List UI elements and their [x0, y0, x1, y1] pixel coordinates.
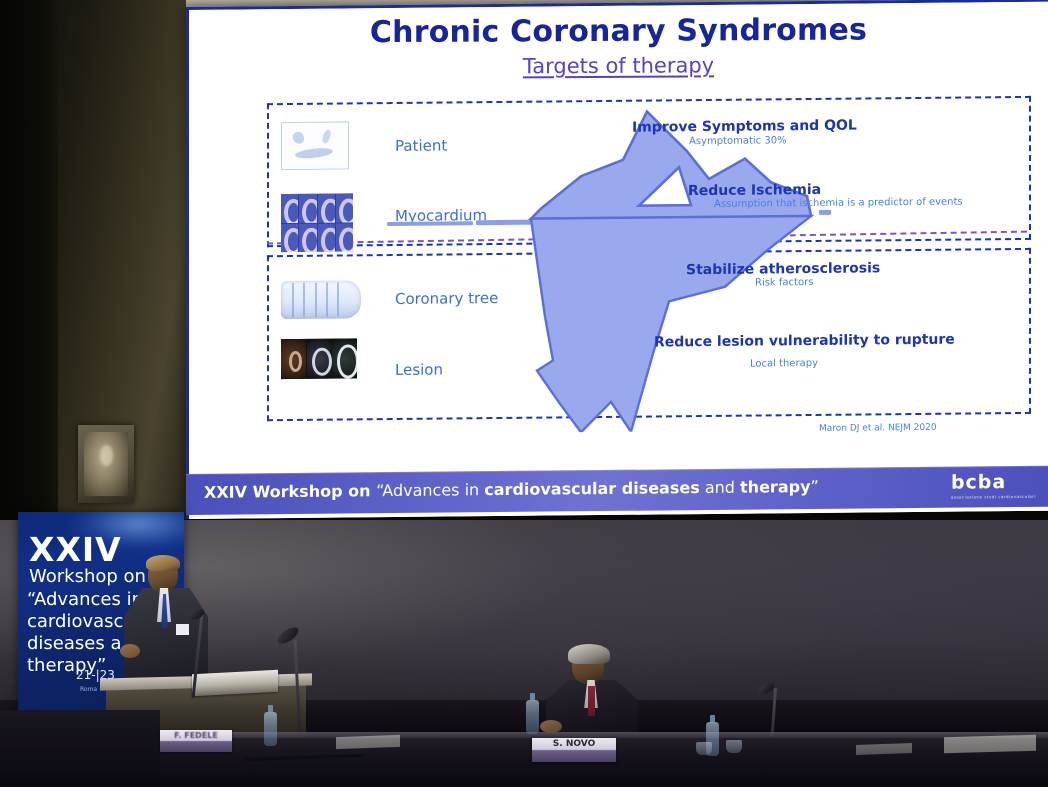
nameplate-left: F. FEDELE	[160, 730, 232, 752]
spect-tile	[318, 194, 335, 223]
lesion-imaging-thumbnail-icon	[281, 338, 357, 379]
spect-tile	[336, 193, 353, 222]
bcba-logo: bcbaassociazione studi cardiovascolari	[951, 471, 1036, 500]
left-label-lesion: Lesion	[395, 361, 443, 379]
drinking-glass-1	[696, 742, 712, 755]
seated-chairperson	[546, 648, 638, 740]
lesion-tile-ivus	[307, 339, 332, 379]
patient-figure-part-c	[295, 146, 334, 159]
event-banner-text: XXIV Workshop on “Advances in cardiovasc…	[204, 477, 819, 502]
drinking-glass-2	[726, 740, 742, 753]
banner-mid: and	[700, 478, 740, 497]
patient-figure-part-b	[321, 129, 333, 144]
target-label-1: Improve Symptoms and QOL	[632, 118, 857, 136]
water-bottle-1	[264, 712, 277, 746]
table-paper-1	[336, 735, 400, 749]
banner-quote-close: ”	[811, 477, 819, 496]
conference-photo-scene: Chronic Coronary Syndromes Targets of th…	[0, 0, 1048, 787]
wall-painting	[78, 425, 134, 503]
rollup-number: XXIV	[29, 530, 122, 569]
bcba-logo-subtext: associazione studi cardiovascolari	[951, 494, 1036, 500]
water-bottle-2	[526, 700, 539, 734]
podium-laptop	[192, 670, 278, 697]
lesion-tile-histology	[281, 339, 306, 379]
spect-tile	[299, 194, 316, 223]
slide-citation: Maron DJ et al. NEJM 2020	[819, 423, 937, 434]
presenter-hair	[146, 555, 180, 571]
target-label-4: Reduce lesion vulnerability to rupture	[654, 332, 955, 351]
painting-figure	[100, 445, 112, 465]
spect-tile	[318, 223, 335, 252]
banner-bold-2: therapy	[740, 477, 810, 497]
left-wall-shadow	[0, 0, 58, 520]
connector-bar-long-left	[387, 221, 473, 226]
nameplate-right-text: S. NOVO	[532, 739, 616, 749]
target-sublabel-3: Risk factors	[755, 277, 813, 289]
target-sublabel-1: Asymptomatic 30%	[689, 135, 787, 147]
left-label-coronary-tree: Coronary tree	[395, 289, 498, 308]
table-laptop-far-right	[944, 735, 1036, 753]
presenter-name-badge	[176, 624, 189, 635]
presentation-slide: Chronic Coronary Syndromes Targets of th…	[189, 2, 1048, 519]
spect-tile	[299, 223, 316, 252]
left-label-patient: Patient	[395, 136, 447, 155]
lesion-tile-oct	[332, 338, 357, 378]
target-sublabel-4: Local therapy	[750, 358, 818, 370]
event-banner-strip: XXIV Workshop on “Advances in cardiovasc…	[186, 466, 1048, 515]
patient-figure-part-a	[291, 131, 305, 146]
chairperson-tie	[588, 686, 595, 716]
rollup-city: Roma	[80, 686, 97, 693]
connector-bar-right-3	[819, 210, 831, 215]
nameplate-right: S. NOVO	[532, 738, 616, 762]
spect-tile	[281, 223, 298, 252]
table-left-block	[0, 710, 160, 787]
target-label-2: Reduce Ischemia	[688, 182, 821, 199]
presenter-hand	[120, 644, 140, 658]
spect-tile	[336, 223, 353, 252]
myocardium-spect-thumbnail-icon	[281, 193, 353, 252]
slide-title: Chronic Coronary Syndromes	[189, 12, 1048, 51]
target-label-3: Stabilize atherosclerosis	[686, 260, 880, 278]
banner-bold-1: cardiovascular diseases	[484, 478, 699, 499]
chairperson-hair	[568, 644, 610, 664]
banner-quote-open: “Advances in	[376, 480, 484, 500]
nameplate-left-text: F. FEDELE	[160, 731, 232, 740]
slide-subtitle: Targets of therapy	[189, 52, 1048, 80]
coronary-tree-thumbnail-icon	[281, 280, 361, 319]
table-paper-2	[856, 743, 912, 755]
spect-tile	[281, 194, 298, 223]
projection-screen: Chronic Coronary Syndromes Targets of th…	[186, 0, 1048, 519]
patient-thumbnail-icon	[281, 121, 349, 170]
banner-prefix: XXIV Workshop on	[204, 481, 376, 502]
bcba-logo-text: bcba	[951, 471, 1006, 494]
iceberg-below-water	[531, 216, 811, 433]
